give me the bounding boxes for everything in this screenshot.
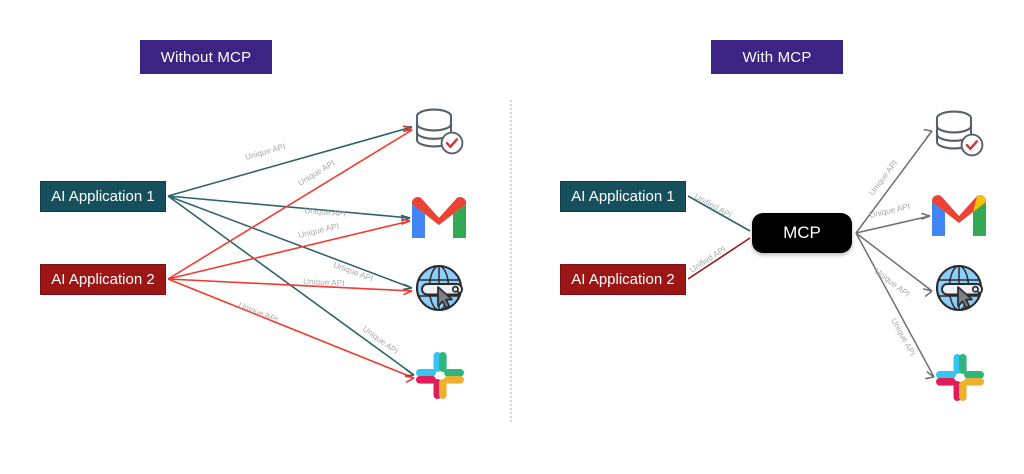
- left-edge-labels: Unique API Unique API Unique API Unique …: [237, 141, 400, 356]
- edge-label-app2-websearch: Unique API: [303, 276, 345, 288]
- globe-search-icon: [930, 258, 990, 318]
- database-check-icon: [928, 104, 988, 164]
- mcp-hub-box: MCP: [752, 213, 852, 253]
- edge-app1-websearch: [168, 196, 412, 288]
- slack-icon: [412, 348, 468, 404]
- edge-label-app2-database: Unique API: [296, 158, 337, 188]
- left-app-1-box: AI Application 1: [40, 181, 166, 212]
- gmail-icon: [928, 190, 990, 240]
- gmail-icon: [408, 192, 470, 242]
- edge-app2-gmail: [168, 221, 410, 279]
- slack-icon: [932, 350, 988, 406]
- edge-mcp-slack: [856, 233, 934, 377]
- right-arrowheads: [921, 130, 934, 379]
- heading-with-mcp: With MCP: [711, 40, 843, 74]
- left-app-2-box: AI Application 2: [40, 264, 166, 295]
- edge-label-app2-slack: Unique API: [237, 300, 279, 325]
- globe-search-icon: [410, 258, 470, 318]
- right-app-1-box: AI Application 1: [560, 181, 686, 212]
- edge-label-mcp-slack: Unique API: [889, 316, 918, 357]
- edge-app2-slack: [168, 279, 414, 378]
- heading-without-mcp: Without MCP: [140, 40, 272, 74]
- edge-label-app1-gmail: Unique API: [304, 205, 346, 219]
- edge-label-mcp-gmail: Unique API: [868, 201, 911, 220]
- edge-label-app2-gmail: Unique API: [297, 221, 340, 240]
- edge-label-right-app2-unified: Unified API: [688, 244, 728, 275]
- panel-divider: [510, 100, 512, 422]
- right-app-2-box: AI Application 2: [560, 264, 686, 295]
- edge-app2-database: [168, 130, 412, 279]
- left-arrowheads: [401, 126, 414, 383]
- diagram-canvas: Unique API Unique API Unique API Unique …: [0, 0, 1024, 474]
- edge-right-app2-mcp: [688, 238, 750, 279]
- edge-app1-gmail: [168, 196, 410, 218]
- right-edge-labels: Unified API Unified API Unique API Uniqu…: [688, 158, 918, 358]
- edge-label-app1-database: Unique API: [244, 141, 287, 162]
- edge-label-mcp-database: Unique API: [867, 158, 900, 197]
- edge-app2-websearch: [168, 279, 412, 291]
- edge-app1-database: [168, 127, 412, 196]
- edge-label-right-app1-unified: Unified API: [693, 191, 734, 220]
- database-check-icon: [408, 102, 468, 162]
